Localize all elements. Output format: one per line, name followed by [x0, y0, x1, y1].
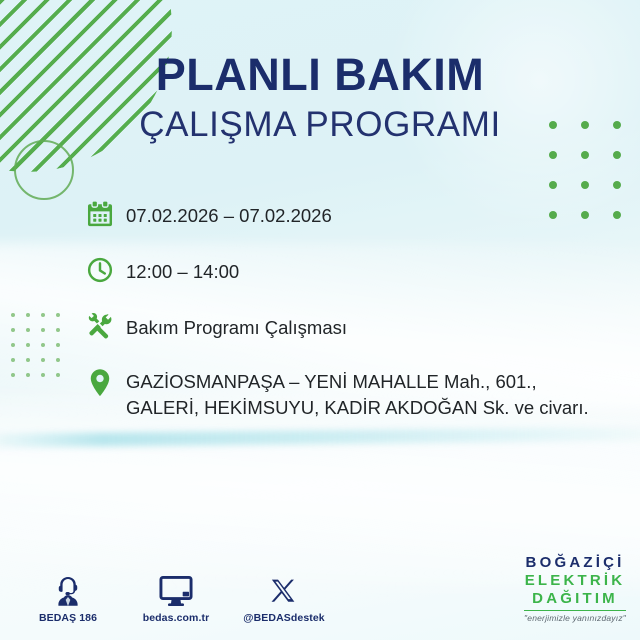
location-pin-icon [86, 368, 126, 402]
detail-text-location: GAZİOSMANPAŞA – YENİ MAHALLE Mah., 601.,… [126, 368, 612, 422]
title-line-2: ÇALIŞMA PROGRAMI [0, 107, 640, 142]
maintenance-announcement-poster: PLANLI BAKIM ÇALIŞMA PROGRAMI 07.02.2026… [0, 0, 640, 640]
background-wave-line [0, 426, 640, 448]
monitor-icon [134, 569, 218, 607]
page-title: PLANLI BAKIM ÇALIŞMA PROGRAMI [0, 52, 640, 142]
dot-grid-left-decoration [11, 313, 71, 388]
clock-icon [86, 256, 126, 290]
circle-outline-decoration [14, 140, 74, 200]
detail-row-time: 12:00 – 14:00 [86, 256, 612, 290]
detail-text-worktype: Bakım Programı Çalışması [126, 312, 347, 341]
footer: BEDAŞ 186 bedas.com.tr [0, 546, 640, 624]
detail-text-date: 07.02.2026 – 07.02.2026 [126, 200, 332, 229]
contact-phone-label: BEDAŞ 186 [26, 612, 110, 624]
contact-website-label: bedas.com.tr [134, 612, 218, 624]
brand-line-2: ELEKTRİK [524, 573, 626, 588]
brand-line-3: DAĞITIM [524, 591, 626, 606]
contact-website[interactable]: bedas.com.tr [134, 569, 218, 624]
calendar-icon [86, 200, 126, 234]
support-agent-icon [26, 569, 110, 607]
x-twitter-icon [242, 569, 326, 607]
brand-line-1: BOĞAZİÇİ [524, 555, 626, 570]
detail-row-worktype: Bakım Programı Çalışması [86, 312, 612, 346]
detail-row-date: 07.02.2026 – 07.02.2026 [86, 200, 612, 234]
contact-phone[interactable]: BEDAŞ 186 [26, 569, 110, 624]
detail-text-time: 12:00 – 14:00 [126, 256, 239, 285]
brand-divider [524, 610, 626, 611]
contact-social[interactable]: @BEDASdestek [242, 569, 326, 624]
tools-icon [86, 312, 126, 346]
bedas-logo: BOĞAZİÇİ ELEKTRİK DAĞITIM "enerjimizle y… [524, 555, 626, 623]
contact-list: BEDAŞ 186 bedas.com.tr [26, 569, 326, 624]
details-list: 07.02.2026 – 07.02.2026 12:00 – 14:00 [86, 200, 612, 422]
title-line-1: PLANLI BAKIM [0, 52, 640, 97]
detail-row-location: GAZİOSMANPAŞA – YENİ MAHALLE Mah., 601.,… [86, 368, 612, 422]
contact-social-label: @BEDASdestek [242, 612, 326, 624]
brand-tagline: "enerjimizle yanınızdayız" [524, 614, 626, 623]
